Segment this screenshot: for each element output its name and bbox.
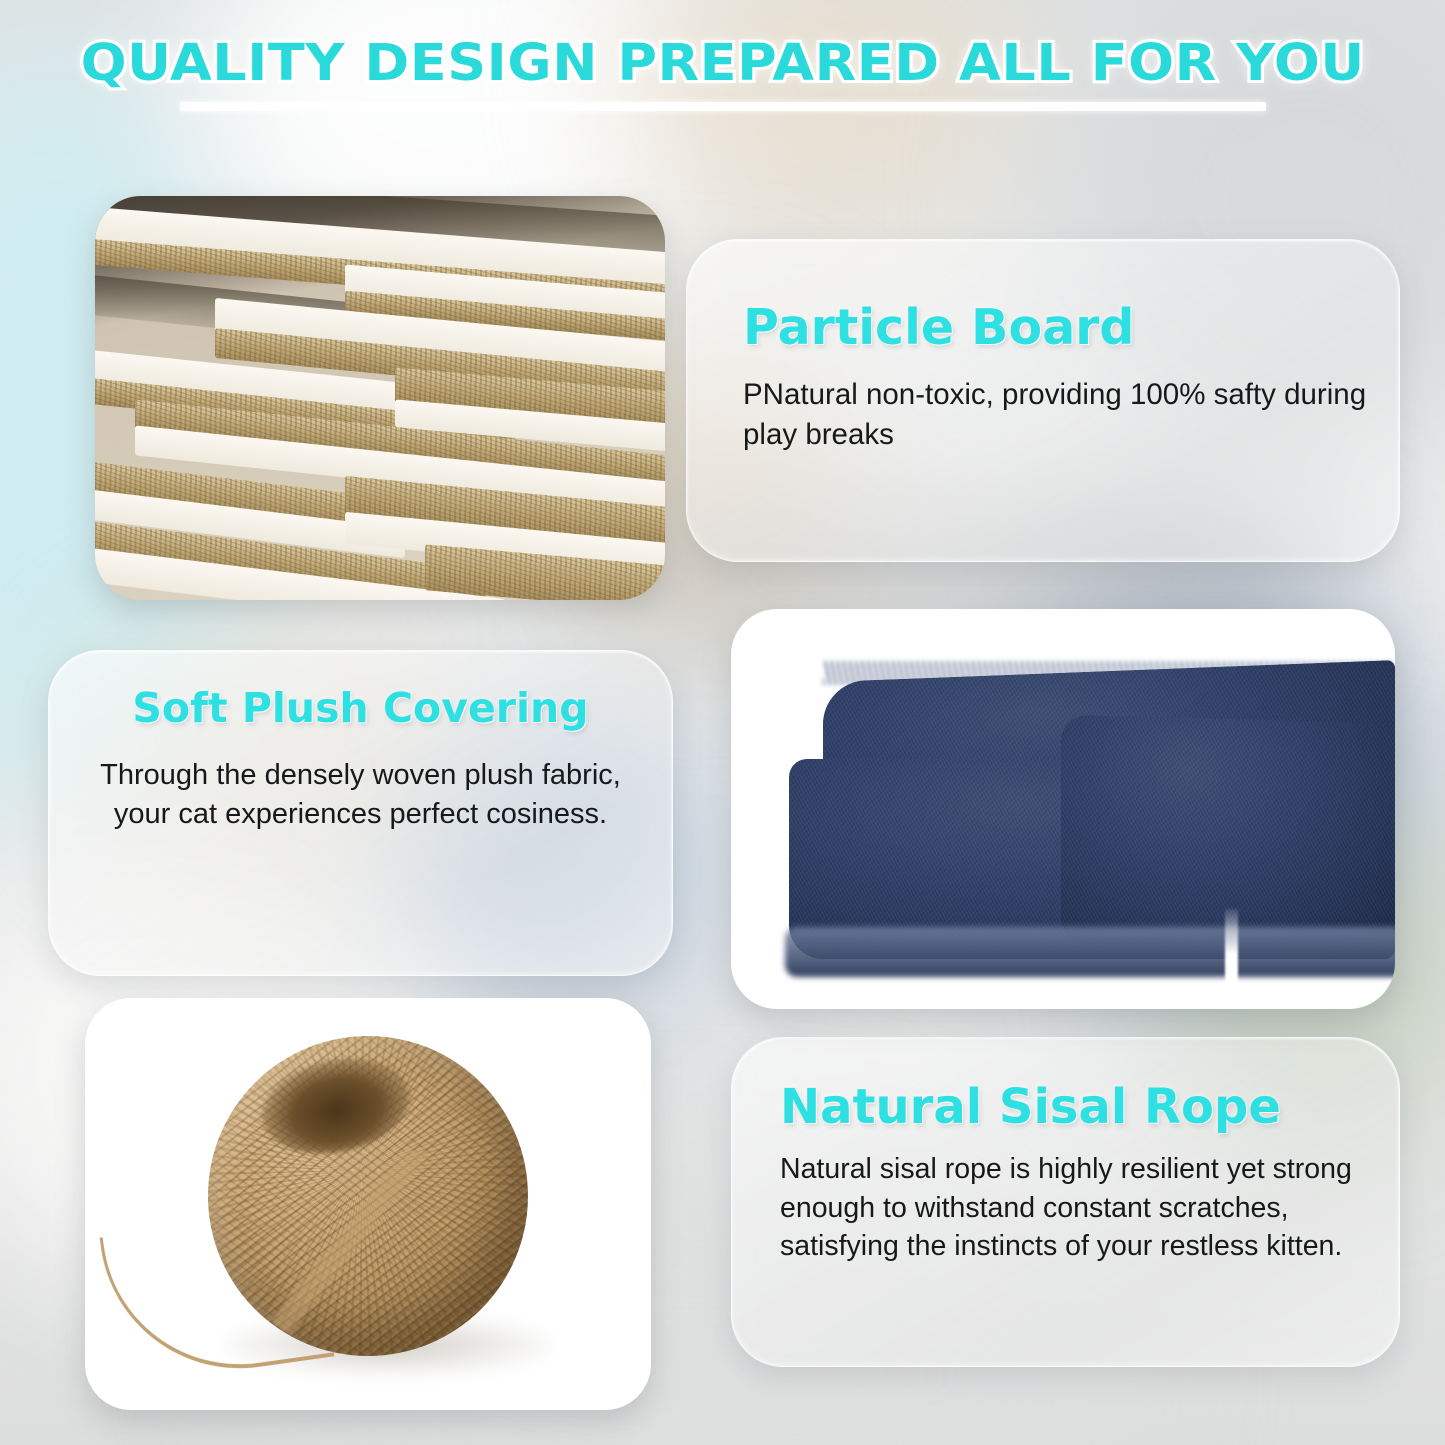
- feature-title-soft-plush-covering: Soft Plush Covering: [49, 687, 672, 730]
- plush-seam-gap: [1225, 909, 1238, 1009]
- feature-card-soft-plush-covering: Soft Plush Covering Through the densely …: [48, 650, 673, 976]
- feature-title-natural-sisal-rope: Natural Sisal Rope: [780, 1082, 1399, 1132]
- sisal-loose-strand: [100, 1208, 335, 1387]
- image-plush-fabric: [731, 609, 1395, 1009]
- infographic-canvas: QUALITY DESIGN PREPARED ALL FOR YOU: [0, 0, 1445, 1445]
- image-sisal-rope-ball: [85, 998, 651, 1410]
- feature-body-soft-plush-covering: Through the densely woven plush fabric, …: [75, 756, 646, 834]
- feature-title-particle-board: Particle Board: [743, 302, 1399, 353]
- page-title: QUALITY DESIGN PREPARED ALL FOR YOU: [80, 34, 1364, 93]
- feature-body-natural-sisal-rope: Natural sisal rope is highly resilient y…: [780, 1150, 1399, 1265]
- feature-card-natural-sisal-rope: Natural Sisal Rope Natural sisal rope is…: [731, 1037, 1400, 1367]
- feature-body-particle-board: PNatural non-toxic, providing 100% safty…: [743, 375, 1399, 454]
- image-particle-board: [95, 196, 665, 600]
- plush-bottom-shading: [785, 927, 1395, 977]
- feature-card-particle-board: Particle Board PNatural non-toxic, provi…: [686, 239, 1400, 562]
- particle-board-scene: [95, 196, 665, 600]
- header: QUALITY DESIGN PREPARED ALL FOR YOU: [0, 34, 1445, 111]
- title-underline: [180, 102, 1266, 111]
